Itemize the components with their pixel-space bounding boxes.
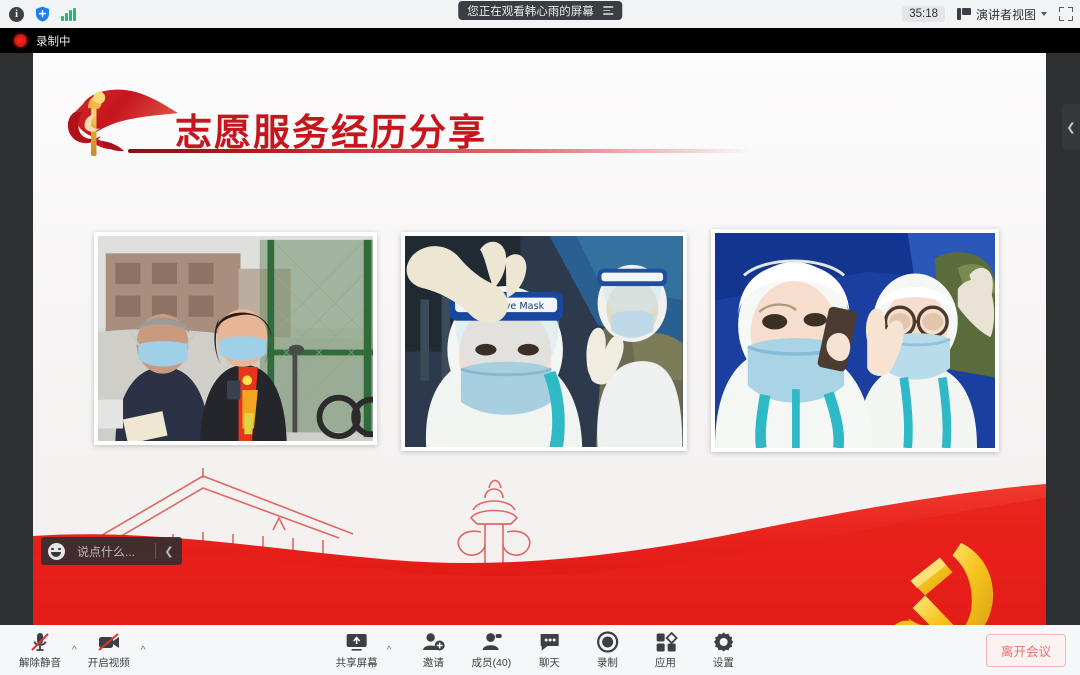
mute-button-label: 解除静音 — [19, 655, 61, 670]
title-underline — [128, 149, 753, 153]
shield-glyph — [35, 6, 50, 22]
toolbar-left-group: 解除静音 ^ 开启视频 ^ — [0, 631, 145, 670]
recording-dot-icon — [14, 34, 27, 47]
share-screen-label: 共享屏幕 — [336, 655, 378, 670]
toolbar-center-group: 共享屏幕 ^ 邀请 — [329, 631, 752, 670]
chevron-down-icon — [1041, 12, 1047, 16]
exit-fullscreen-icon[interactable] — [1059, 7, 1073, 21]
participants-icon — [479, 631, 503, 653]
share-screen-button[interactable]: 共享屏幕 — [329, 631, 385, 670]
chevron-left-icon[interactable]: ❮ — [156, 537, 182, 565]
apps-button[interactable]: 应用 — [637, 631, 693, 670]
window-top-bar: i 您正在观看韩心雨的屏幕 35:18 — [0, 0, 1080, 28]
view-mode-label: 演讲者视图 — [976, 6, 1036, 23]
chevron-up-icon[interactable]: ^ — [141, 645, 146, 670]
chevron-left-icon: ❮ — [1066, 121, 1075, 134]
settings-button[interactable]: 设置 — [695, 631, 751, 670]
start-video-button[interactable]: 开启视频 — [81, 631, 137, 670]
gear-icon — [711, 631, 735, 653]
meeting-stage: 录制中 — [0, 28, 1080, 625]
shared-slide[interactable]: 志愿服务经历分享 — [33, 53, 1046, 647]
top-bar-right-controls: 35:18 演讲者视图 — [902, 6, 1080, 23]
recording-label: 录制中 — [36, 33, 71, 49]
info-icon-glyph: i — [9, 7, 24, 22]
photo-volunteer-assisting-elderly[interactable] — [94, 232, 377, 445]
chat-bubble-icon — [537, 631, 561, 653]
photo-volunteers-ppe-peace-sign[interactable]: Protective Mask — [401, 232, 686, 451]
record-button[interactable]: 录制 — [579, 631, 635, 670]
mute-button[interactable]: 解除静音 — [12, 631, 68, 670]
settings-label: 设置 — [713, 655, 734, 670]
photo-gallery: Protective Mask — [94, 232, 999, 452]
tiananmen-great-wall-red-silhouette — [33, 432, 1046, 647]
share-screen-icon — [345, 631, 369, 653]
video-camera-off-icon — [97, 631, 121, 653]
info-icon[interactable]: i — [8, 6, 25, 23]
invite-label: 邀请 — [423, 655, 444, 670]
chat-input-placeholder[interactable]: 说点什么... — [71, 543, 155, 560]
security-shield-icon[interactable] — [34, 6, 51, 23]
leave-meeting-button[interactable]: 离开会议 — [986, 634, 1066, 667]
record-label: 录制 — [597, 655, 618, 670]
participants-button[interactable]: 成员(40) — [463, 631, 519, 670]
share-options-icon[interactable] — [603, 6, 613, 14]
recording-bar: 录制中 — [0, 28, 1080, 53]
invite-button[interactable]: 邀请 — [405, 631, 461, 670]
toolbar-right-group: 离开会议 — [986, 634, 1080, 667]
chat-button[interactable]: 聊天 — [521, 631, 577, 670]
side-panel-expand-button[interactable]: ❮ — [1062, 104, 1080, 150]
apps-label: 应用 — [655, 655, 676, 670]
start-video-button-label: 开启视频 — [88, 655, 130, 670]
chevron-up-icon[interactable]: ^ — [72, 645, 77, 670]
meeting-timer: 35:18 — [902, 6, 945, 22]
page-title: 志愿服务经历分享 — [175, 102, 487, 156]
network-signal-icon[interactable] — [60, 6, 77, 23]
microphone-muted-icon — [29, 631, 51, 653]
record-circle-icon — [595, 631, 619, 653]
participants-label: 成员(40) — [472, 655, 512, 670]
screen-share-notice: 您正在观看韩心雨的屏幕 — [458, 1, 622, 20]
top-bar-status-icons: i — [0, 6, 77, 23]
chat-label: 聊天 — [539, 655, 560, 670]
signal-bars-glyph — [61, 8, 76, 21]
view-mode-selector[interactable]: 演讲者视图 — [957, 6, 1047, 23]
chevron-up-icon[interactable]: ^ — [387, 645, 392, 670]
apps-grid-icon — [653, 631, 677, 653]
chat-input-overlay[interactable]: 说点什么... ❮ — [41, 537, 182, 565]
emoji-picker-icon[interactable] — [41, 537, 71, 565]
layout-speaker-view-icon — [957, 8, 971, 20]
zoom-meeting-window: i 您正在观看韩心雨的屏幕 35:18 — [0, 0, 1080, 675]
invite-person-icon — [421, 631, 445, 653]
screen-share-notice-text: 您正在观看韩心雨的屏幕 — [467, 3, 594, 19]
photo-two-volunteers-ppe[interactable] — [711, 229, 999, 452]
emoji-face-glyph — [48, 543, 65, 560]
meeting-toolbar: 解除静音 ^ 开启视频 ^ — [0, 625, 1080, 675]
